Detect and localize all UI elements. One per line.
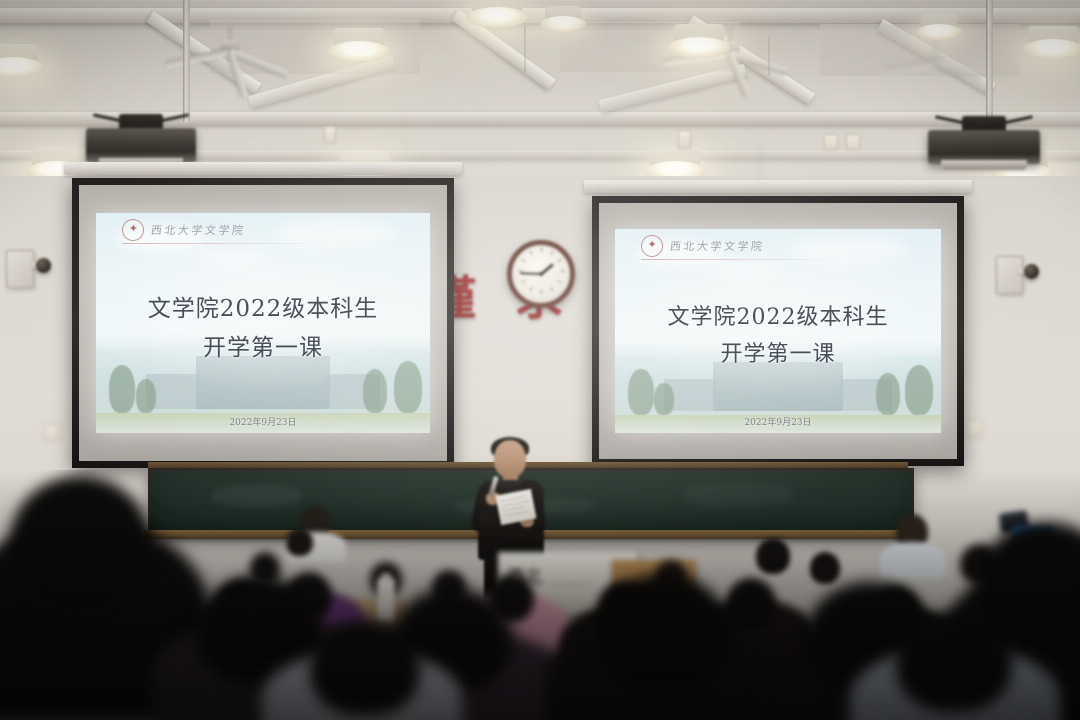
wall-outlet-icon [966,420,982,438]
slide-left: ✦ 西北大学文学院 文学院2022级本科生 开学第一课 2022年9月23日 [96,213,431,434]
audience-head [286,528,313,556]
slide-date: 2022年9月23日 [96,415,431,433]
dome-camera-icon [1024,264,1039,279]
pendant-downlight-icon [644,148,706,176]
wall-outlet-icon [846,134,860,150]
projector-mount-pole [183,0,190,122]
audience-head [310,620,420,716]
audience-head [596,574,730,688]
pendant-downlight-icon [466,0,528,28]
slide-title-line2: 开学第一课 [203,328,323,362]
audience-head [896,612,1012,712]
audience-head [978,522,1080,642]
lecture-hall-photo: 谨 求 [0,0,1080,720]
audience-head [10,476,150,606]
water-bottle [377,578,395,622]
wall-clock-icon [507,240,575,308]
slide-logo-text: 西北大学文学院 [669,238,765,254]
left-projection-screen[interactable]: ✦ 西北大学文学院 文学院2022级本科生 开学第一课 2022年9月23日 [72,178,454,468]
wall-outlet-icon [324,126,336,143]
pendant-downlight-icon [668,24,730,58]
pendant-downlight-icon [540,6,586,32]
slide-logo-text: 西北大学文学院 [150,222,246,238]
projector-mount-pole [986,0,993,124]
slide-title-line1: 文学院2022级本科生 [667,299,888,331]
pendant-downlight-icon [916,14,962,40]
pendant-downlight-icon [0,44,44,78]
electrical-box-icon [6,250,34,288]
audience [0,470,1080,720]
right-projection-screen[interactable]: ✦ 西北大学文学院 文学院2022级本科生 开学第一课 2022年9月23日 [592,196,964,466]
slide-date: 2022年9月23日 [615,415,941,433]
dome-camera-icon [36,258,51,273]
pendant-downlight-icon [328,28,390,62]
wall-outlet-icon [678,130,691,149]
ceiling-fan-icon [880,40,990,80]
ceiling-projector-icon [928,116,1040,172]
slide-title-line1: 文学院2022级本科生 [148,289,379,323]
slide-right: ✦ 西北大学文学院 文学院2022级本科生 开学第一课 2022年9月23日 [615,229,941,434]
electrical-box-icon [996,256,1023,294]
ceiling-fan-icon [160,22,300,72]
audience-head [756,538,790,574]
audience-head [726,578,776,630]
pendant-downlight-icon [1022,26,1080,60]
clock-minute-hand [520,272,541,275]
wall-outlet-icon [824,134,838,150]
slide-title-line2: 开学第一课 [720,336,835,368]
wall-outlet-icon [44,424,60,442]
audience-head [810,552,840,584]
